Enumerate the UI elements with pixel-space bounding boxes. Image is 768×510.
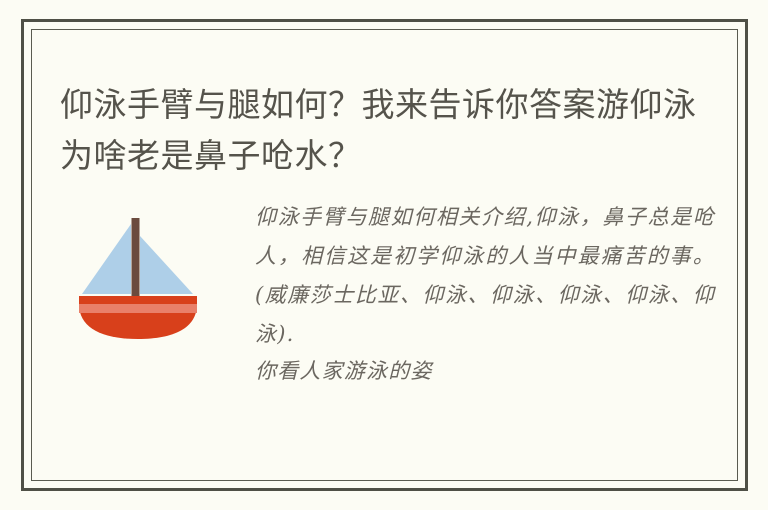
- page-title: 仰泳手臂与腿如何？我来告诉你答案游仰泳为啥老是鼻子呛水？: [60, 79, 700, 181]
- sailboat-icon: [74, 208, 202, 340]
- card-content: 仰泳手臂与腿如何？我来告诉你答案游仰泳为啥老是鼻子呛水？ 仰泳手臂与腿: [24, 22, 745, 488]
- article-body: 仰泳手臂与腿如何相关介绍,仰泳，鼻子总是呛人，相信这是初学仰泳的人当中最痛苦的事…: [60, 198, 715, 478]
- article-tail-line: 你看人家游泳的姿: [255, 354, 715, 388]
- sailboat-illustration: [74, 208, 202, 340]
- article-card: 仰泳手臂与腿如何？我来告诉你答案游仰泳为啥老是鼻子呛水？ 仰泳手臂与腿: [21, 19, 748, 491]
- article-paragraph-text: 仰泳手臂与腿如何相关介绍,仰泳，鼻子总是呛人，相信这是初学仰泳的人当中最痛苦的事…: [255, 205, 715, 346]
- article-paragraph: 仰泳手臂与腿如何相关介绍,仰泳，鼻子总是呛人，相信这是初学仰泳的人当中最痛苦的事…: [255, 198, 715, 388]
